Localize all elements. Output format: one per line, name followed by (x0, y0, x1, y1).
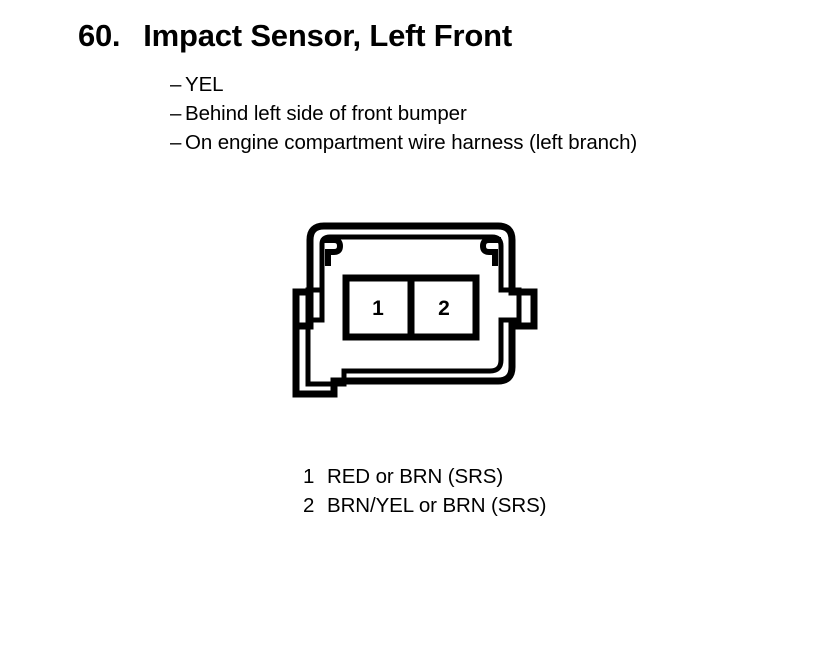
component-name: Impact Sensor, Left Front (143, 18, 512, 54)
legend-row: 1 RED or BRN (SRS) (303, 462, 546, 491)
legend-circuit-description: RED or BRN (SRS) (327, 462, 503, 491)
cavity-label-1: 1 (372, 297, 384, 320)
cavity-label-2: 2 (438, 297, 450, 320)
legend-row: 2 BRN/YEL or BRN (SRS) (303, 491, 546, 520)
component-number: 60. (78, 18, 120, 54)
legend-pin-number: 1 (303, 462, 327, 491)
list-item: – On engine compartment wire harness (le… (170, 128, 637, 157)
dash-icon: – (170, 128, 185, 157)
note-text: YEL (185, 70, 223, 99)
connector-diagram: 1 2 (272, 210, 562, 410)
legend-circuit-description: BRN/YEL or BRN (SRS) (327, 491, 546, 520)
pin-legend: 1 RED or BRN (SRS) 2 BRN/YEL or BRN (SRS… (303, 462, 546, 520)
connector-top-left-hook-icon (322, 240, 340, 266)
note-text: Behind left side of front bumper (185, 99, 467, 128)
dash-icon: – (170, 70, 185, 99)
legend-pin-number: 2 (303, 491, 327, 520)
connector-drawing: 1 2 (272, 210, 562, 410)
diagram-page: 60. Impact Sensor, Left Front – YEL – Be… (0, 0, 832, 670)
component-notes-list: – YEL – Behind left side of front bumper… (170, 70, 637, 157)
list-item: – YEL (170, 70, 637, 99)
list-item: – Behind left side of front bumper (170, 99, 637, 128)
page-title: 60. Impact Sensor, Left Front (78, 18, 512, 54)
dash-icon: – (170, 99, 185, 128)
note-text: On engine compartment wire harness (left… (185, 128, 637, 157)
